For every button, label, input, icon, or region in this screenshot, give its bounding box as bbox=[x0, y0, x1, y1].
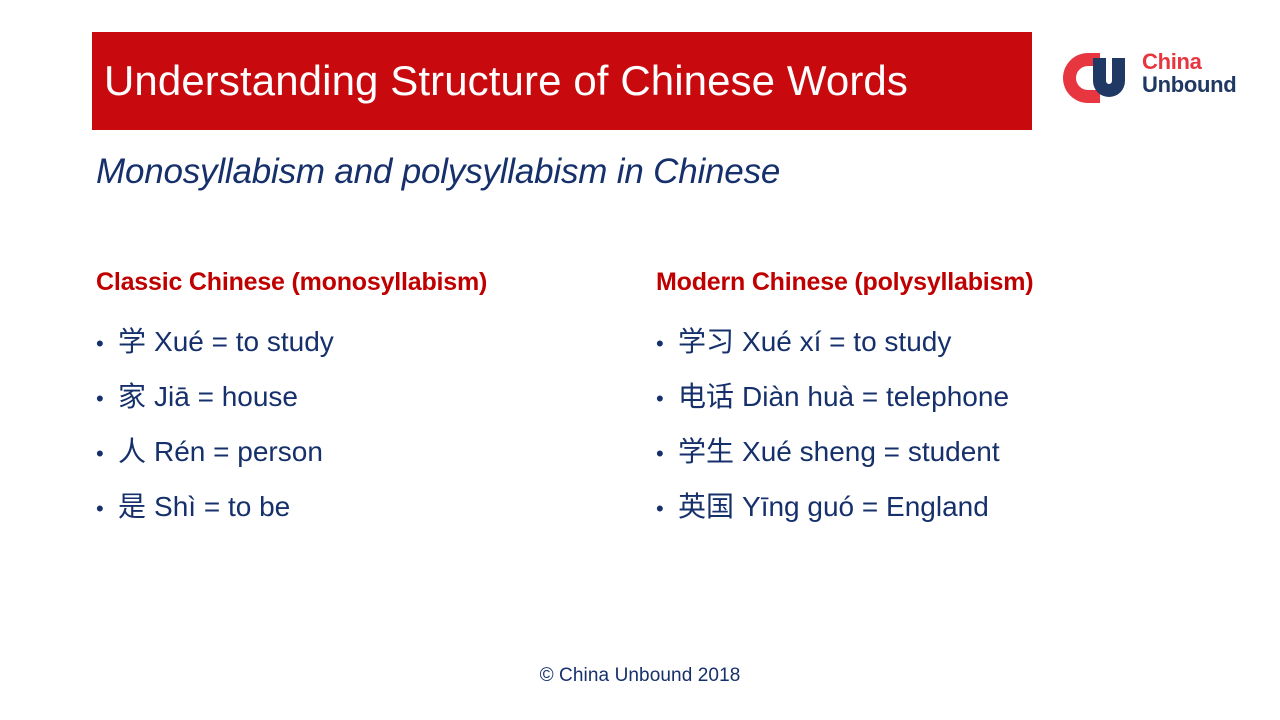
column-modern-chinese: Modern Chinese (polysyllabism) • 学习 Xué … bbox=[656, 268, 1256, 535]
hanzi-text: 家 bbox=[118, 370, 146, 423]
bullet-icon: • bbox=[656, 317, 678, 370]
hanzi-text: 学习 bbox=[678, 315, 734, 368]
bullet-icon: • bbox=[96, 427, 118, 480]
bullet-icon: • bbox=[656, 482, 678, 535]
list-item: • 学习 Xué xí = to study bbox=[656, 315, 1256, 370]
gloss-text: Xué xí = to study bbox=[742, 315, 951, 368]
logo-text-unbound: Unbound bbox=[1142, 74, 1236, 97]
list-item: • 学 Xué = to study bbox=[96, 315, 641, 370]
hanzi-text: 英国 bbox=[678, 480, 734, 533]
logo-wordmark: China Unbound bbox=[1142, 51, 1236, 97]
gloss-text: Shì = to be bbox=[154, 480, 290, 533]
list-item: • 英国 Yīng guó = England bbox=[656, 480, 1256, 535]
title-banner: Understanding Structure of Chinese Words bbox=[92, 32, 1032, 130]
copyright-footer: © China Unbound 2018 bbox=[0, 665, 1280, 687]
column-heading-modern: Modern Chinese (polysyllabism) bbox=[656, 268, 1256, 297]
list-item: • 人 Rén = person bbox=[96, 425, 641, 480]
list-item: • 家 Jiā = house bbox=[96, 370, 641, 425]
hanzi-text: 学 bbox=[118, 315, 146, 368]
list-item: • 是 Shì = to be bbox=[96, 480, 641, 535]
bullet-icon: • bbox=[96, 317, 118, 370]
list-item: • 电话 Diàn huà = telephone bbox=[656, 370, 1256, 425]
bullet-list-modern: • 学习 Xué xí = to study • 电话 Diàn huà = t… bbox=[656, 315, 1256, 535]
slide-subtitle: Monosyllabism and polysyllabism in Chine… bbox=[96, 152, 780, 192]
cu-monogram-icon bbox=[1060, 50, 1136, 106]
brand-logo: China Unbound bbox=[1060, 48, 1260, 110]
page-title: Understanding Structure of Chinese Words bbox=[92, 59, 908, 103]
gloss-text: Xué sheng = student bbox=[742, 425, 1000, 478]
bullet-icon: • bbox=[96, 482, 118, 535]
hanzi-text: 电话 bbox=[678, 370, 734, 423]
gloss-text: Jiā = house bbox=[154, 370, 298, 423]
list-item: • 学生 Xué sheng = student bbox=[656, 425, 1256, 480]
gloss-text: Diàn huà = telephone bbox=[742, 370, 1009, 423]
hanzi-text: 学生 bbox=[678, 425, 734, 478]
gloss-text: Yīng guó = England bbox=[742, 480, 989, 533]
column-heading-classic: Classic Chinese (monosyllabism) bbox=[96, 268, 641, 297]
hanzi-text: 人 bbox=[118, 425, 146, 478]
slide-canvas: Understanding Structure of Chinese Words… bbox=[0, 0, 1280, 720]
bullet-list-classic: • 学 Xué = to study • 家 Jiā = house • 人 R… bbox=[96, 315, 641, 535]
hanzi-text: 是 bbox=[118, 480, 146, 533]
logo-text-china: China bbox=[1142, 51, 1236, 74]
bullet-icon: • bbox=[656, 427, 678, 480]
bullet-icon: • bbox=[656, 372, 678, 425]
gloss-text: Xué = to study bbox=[154, 315, 334, 368]
bullet-icon: • bbox=[96, 372, 118, 425]
column-classic-chinese: Classic Chinese (monosyllabism) • 学 Xué … bbox=[96, 268, 641, 535]
gloss-text: Rén = person bbox=[154, 425, 323, 478]
